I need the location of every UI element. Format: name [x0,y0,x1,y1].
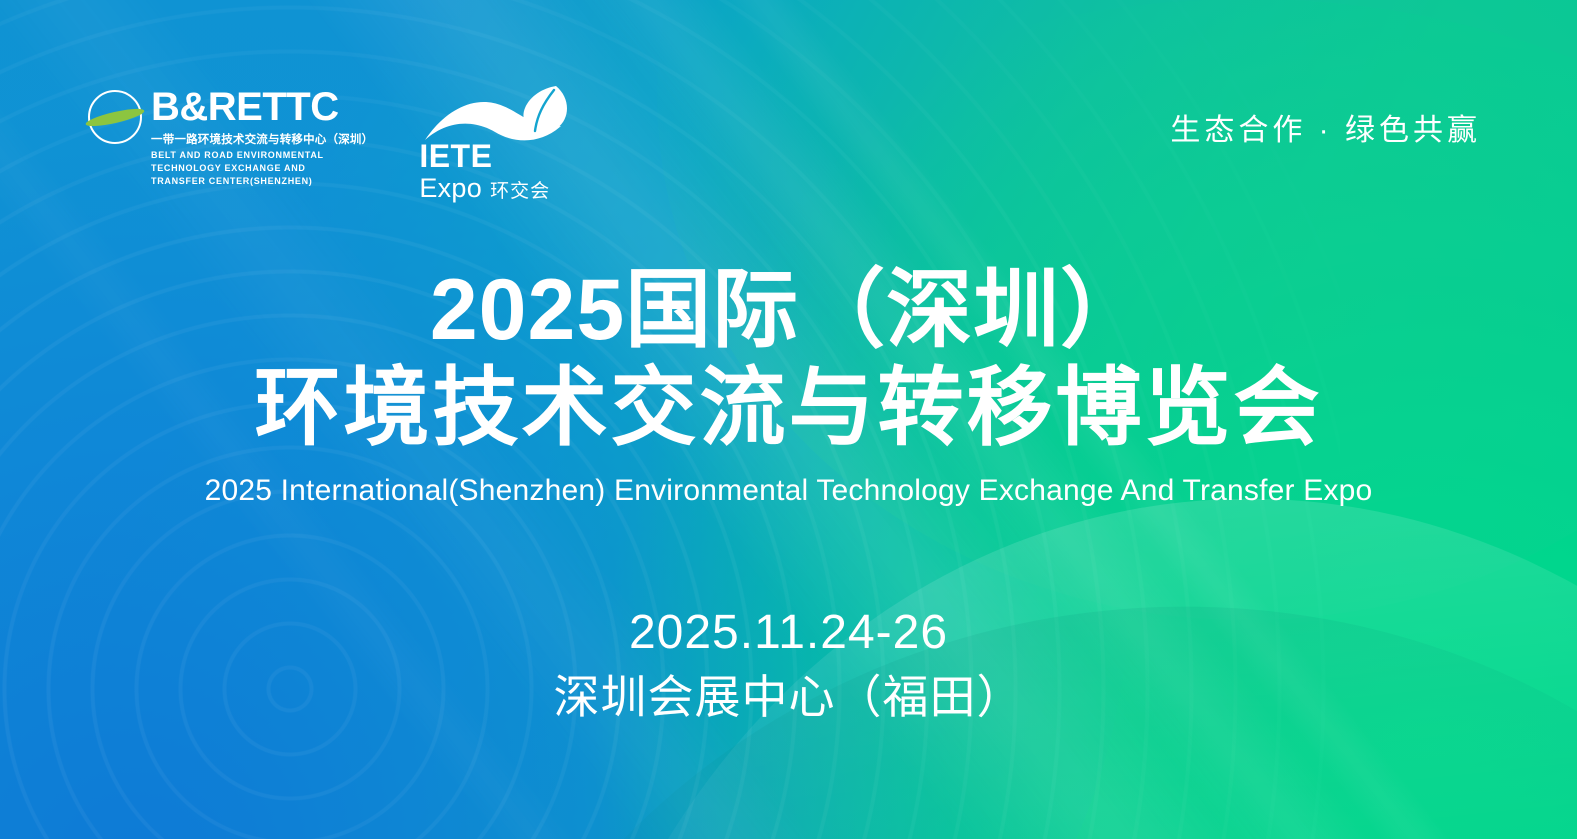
brettc-logo[interactable]: B&RETTC 一带一路环境技术交流与转移中心（深圳） BELT AND ROA… [88,86,373,187]
title-english-subtitle: 2025 International(Shenzhen) Environment… [0,474,1577,508]
expo-banner: B&RETTC 一带一路环境技术交流与转移中心（深圳） BELT AND ROA… [0,0,1577,839]
event-date: 2025.11.24-26 [0,604,1577,662]
event-details: 2025.11.24-26 深圳会展中心（福田） [0,604,1577,725]
brettc-title: B&RETTC [151,87,373,127]
title-line-1: 2025国际（深圳） [0,262,1577,358]
iete-expo-logo[interactable]: IETE Expo 环交会 [417,86,577,196]
event-venue: 深圳会展中心（福田） [0,670,1577,725]
iete-wordmark: IETE [419,140,550,172]
page-title: 2025国际（深圳） 环境技术交流与转移博览会 2025 Internation… [0,262,1577,508]
brettc-chinese-name: 一带一路环境技术交流与转移中心（深圳） [151,131,373,147]
globe-icon [88,90,142,144]
iete-expo-label: Expo [419,175,482,202]
logo-row: B&RETTC 一带一路环境技术交流与转移中心（深圳） BELT AND ROA… [88,86,577,196]
title-line-2: 环境技术交流与转移博览会 [0,358,1577,459]
iete-chinese-label: 环交会 [490,182,550,201]
brettc-english-name: BELT AND ROAD ENVIRONMENTAL TECHNOLOGY E… [151,149,359,187]
header-slogan: 生态合作 · 绿色共赢 [1170,105,1481,149]
